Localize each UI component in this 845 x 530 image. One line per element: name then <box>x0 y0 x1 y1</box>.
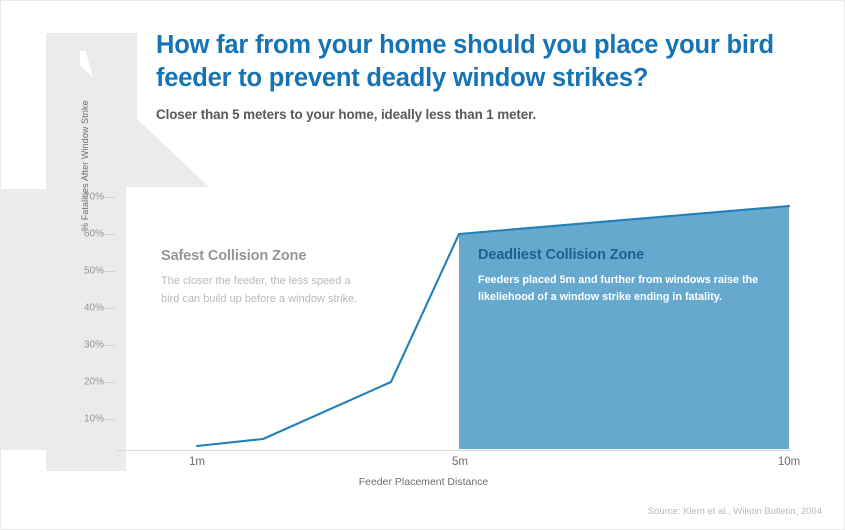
y-tick-label-20: 20% <box>84 377 104 388</box>
deadliest-zone-annotation: Deadliest Collision Zone Feeders placed … <box>478 247 768 305</box>
plot-area: % Fatalities After Window Strike 70% 60%… <box>116 189 791 449</box>
safest-zone-annotation: Safest Collision Zone The closer the fee… <box>161 248 361 308</box>
x-tick-label-1m: 1m <box>189 456 205 468</box>
y-tick-label-50: 50% <box>84 266 104 277</box>
y-tick-label-70: 70% <box>84 192 104 203</box>
chart-header: How far from your home should you place … <box>156 29 816 122</box>
chart-plot-svg <box>116 189 791 449</box>
x-axis-title: Feeder Placement Distance <box>1 476 845 488</box>
y-axis-title: % Fatalities After Window Strike <box>80 41 90 231</box>
y-tick-label-40: 40% <box>84 303 104 314</box>
y-tick-label-10: 10% <box>84 414 104 425</box>
safest-zone-body: The closer the feeder, the less speed a … <box>161 273 361 308</box>
y-tick-line <box>104 419 115 420</box>
x-tick-label-5m: 5m <box>452 456 468 468</box>
y-tick-label-30: 30% <box>84 340 104 351</box>
y-tick-line <box>104 234 115 235</box>
safest-zone-heading: Safest Collision Zone <box>161 248 361 264</box>
y-tick-line <box>104 308 115 309</box>
source-note: Source: Klem et al., Wilson Bulletin, 20… <box>648 506 822 517</box>
page-subtitle: Closer than 5 meters to your home, ideal… <box>156 107 816 122</box>
y-tick-line <box>104 345 115 346</box>
deadliest-zone-body: Feeders placed 5m and further from windo… <box>478 272 768 305</box>
deadliest-zone-heading: Deadliest Collision Zone <box>478 247 768 263</box>
y-tick-line <box>104 271 115 272</box>
y-tick-line <box>104 382 115 383</box>
y-tick-line <box>104 197 115 198</box>
chart-page: How far from your home should you place … <box>0 0 845 530</box>
page-title: How far from your home should you place … <box>156 29 816 95</box>
x-tick-label-10m: 10m <box>778 456 800 468</box>
y-tick-label-60: 60% <box>84 229 104 240</box>
x-axis-line <box>116 450 791 451</box>
deadliest-zone-fill <box>459 206 789 449</box>
